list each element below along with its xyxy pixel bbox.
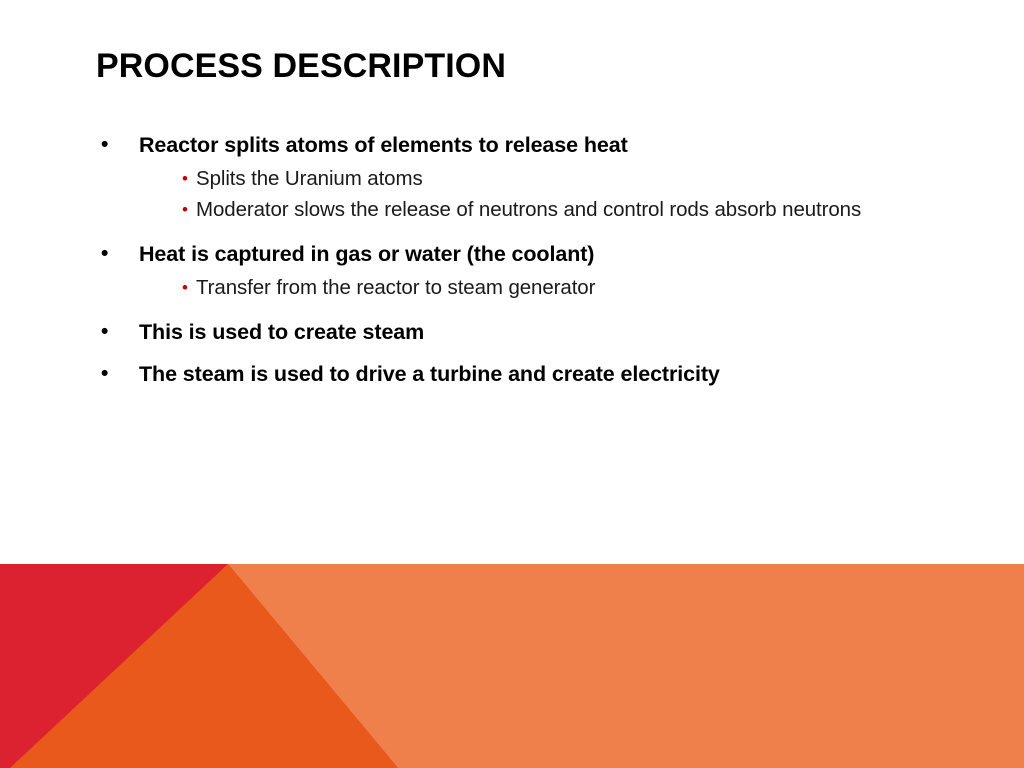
footer-angled-bands-icon bbox=[0, 564, 1024, 768]
bullet-marker-icon: • bbox=[96, 317, 139, 347]
list-item: • Moderator slows the release of neutron… bbox=[96, 195, 976, 225]
list-item: • The steam is used to drive a turbine a… bbox=[96, 359, 976, 389]
list-item: • Splits the Uranium atoms bbox=[96, 164, 976, 194]
sub-bullet-marker-icon: • bbox=[96, 273, 196, 303]
bullet-marker-icon: • bbox=[96, 130, 139, 160]
list-item: • This is used to create steam bbox=[96, 317, 976, 347]
sub-bullet-marker-icon: • bbox=[96, 195, 196, 225]
list-item: • Transfer from the reactor to steam gen… bbox=[96, 273, 976, 303]
bullet-list: • Reactor splits atoms of elements to re… bbox=[96, 130, 976, 393]
list-item-text: Moderator slows the release of neutrons … bbox=[196, 195, 896, 225]
bullet-marker-icon: • bbox=[96, 359, 139, 389]
footer-decoration bbox=[0, 564, 1024, 768]
list-item-text: Splits the Uranium atoms bbox=[196, 164, 896, 194]
sub-bullet-marker-icon: • bbox=[96, 164, 196, 194]
page-title: PROCESS DESCRIPTION bbox=[96, 48, 956, 85]
slide: PROCESS DESCRIPTION • Reactor splits ato… bbox=[0, 0, 1024, 768]
list-item: • Heat is captured in gas or water (the … bbox=[96, 239, 976, 269]
bullet-marker-icon: • bbox=[96, 239, 139, 269]
list-item-text: This is used to create steam bbox=[139, 317, 976, 347]
list-item-text: Heat is captured in gas or water (the co… bbox=[139, 239, 976, 269]
list-item: • Reactor splits atoms of elements to re… bbox=[96, 130, 976, 160]
list-item-text: Transfer from the reactor to steam gener… bbox=[196, 273, 896, 303]
list-item-text: Reactor splits atoms of elements to rele… bbox=[139, 130, 976, 160]
list-item-text: The steam is used to drive a turbine and… bbox=[139, 359, 976, 389]
